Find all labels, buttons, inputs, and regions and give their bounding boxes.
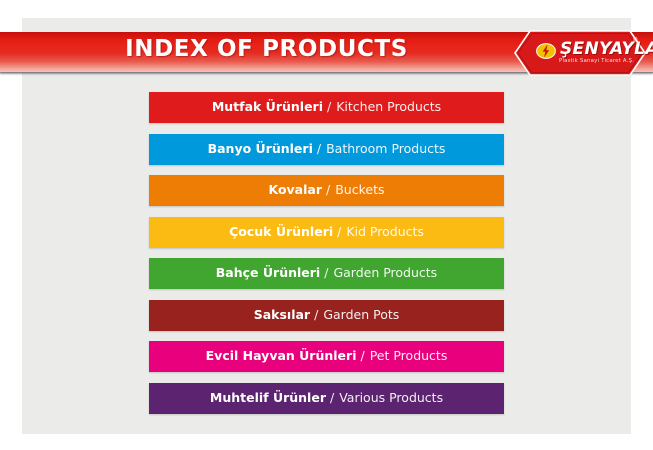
index-item-garden[interactable]: Bahçe Ürünleri/Garden Products <box>149 258 504 289</box>
slide-root: INDEX OF PRODUCTS ŞENYAYLA ® Plastik San… <box>0 0 653 450</box>
index-item-label: Saksılar/Garden Pots <box>254 309 400 322</box>
logo-registered-icon: ® <box>633 38 637 44</box>
index-item-buckets[interactable]: Kovalar/Buckets <box>149 175 504 206</box>
index-item-title-tr: Çocuk Ürünleri <box>229 224 333 239</box>
index-item-separator: / <box>327 99 331 114</box>
index-item-title-en: Buckets <box>335 182 384 197</box>
index-item-title-en: Garden Pots <box>323 307 399 322</box>
index-item-kid[interactable]: Çocuk Ürünleri/Kid Products <box>149 217 504 248</box>
index-item-title-tr: Muhtelif Ürünler <box>210 390 326 405</box>
index-item-label: Mutfak Ürünleri/Kitchen Products <box>212 101 441 114</box>
index-item-pet[interactable]: Evcil Hayvan Ürünleri/Pet Products <box>149 341 504 372</box>
lightning-bolt-icon <box>536 41 556 61</box>
index-item-separator: / <box>330 390 334 405</box>
index-item-title-en: Kitchen Products <box>336 99 441 114</box>
index-item-bathroom[interactable]: Banyo Ürünleri/Bathroom Products <box>149 134 504 165</box>
index-item-label: Banyo Ürünleri/Bathroom Products <box>208 143 446 156</box>
index-item-title-tr: Evcil Hayvan Ürünleri <box>206 348 357 363</box>
index-item-separator: / <box>326 182 330 197</box>
index-item-label: Evcil Hayvan Ürünleri/Pet Products <box>206 350 448 363</box>
index-item-separator: / <box>324 265 328 280</box>
index-item-title-en: Pet Products <box>370 348 448 363</box>
index-item-kitchen[interactable]: Mutfak Ürünleri/Kitchen Products <box>149 92 504 123</box>
index-item-label: Bahçe Ürünleri/Garden Products <box>216 267 437 280</box>
index-item-title-tr: Banyo Ürünleri <box>208 141 313 156</box>
logo-tagline: Plastik Sanayi Ticaret A.Ş. <box>559 58 634 64</box>
product-index-list: Mutfak Ürünleri/Kitchen Products Banyo Ü… <box>149 92 504 424</box>
index-item-title-en: Various Products <box>339 390 443 405</box>
index-item-label: Çocuk Ürünleri/Kid Products <box>229 226 424 239</box>
index-item-title-tr: Mutfak Ürünleri <box>212 99 323 114</box>
index-item-title-tr: Saksılar <box>254 307 310 322</box>
index-item-various[interactable]: Muhtelif Ürünler/Various Products <box>149 383 504 414</box>
index-item-label: Muhtelif Ürünler/Various Products <box>210 392 443 405</box>
index-item-separator: / <box>337 224 341 239</box>
index-item-title-tr: Bahçe Ürünleri <box>216 265 320 280</box>
index-item-title-en: Bathroom Products <box>326 141 445 156</box>
index-item-title-en: Garden Products <box>333 265 437 280</box>
index-item-separator: / <box>314 307 318 322</box>
index-item-garden-pots[interactable]: Saksılar/Garden Pots <box>149 300 504 331</box>
index-item-title-tr: Kovalar <box>268 182 322 197</box>
company-logo: ŞENYAYLA ® Plastik Sanayi Ticaret A.Ş. <box>514 28 646 78</box>
index-item-label: Kovalar/Buckets <box>268 184 384 197</box>
logo-wordmark: ŞENYAYLA <box>560 39 653 59</box>
index-item-title-en: Kid Products <box>346 224 424 239</box>
index-item-separator: / <box>317 141 321 156</box>
index-item-separator: / <box>360 348 364 363</box>
